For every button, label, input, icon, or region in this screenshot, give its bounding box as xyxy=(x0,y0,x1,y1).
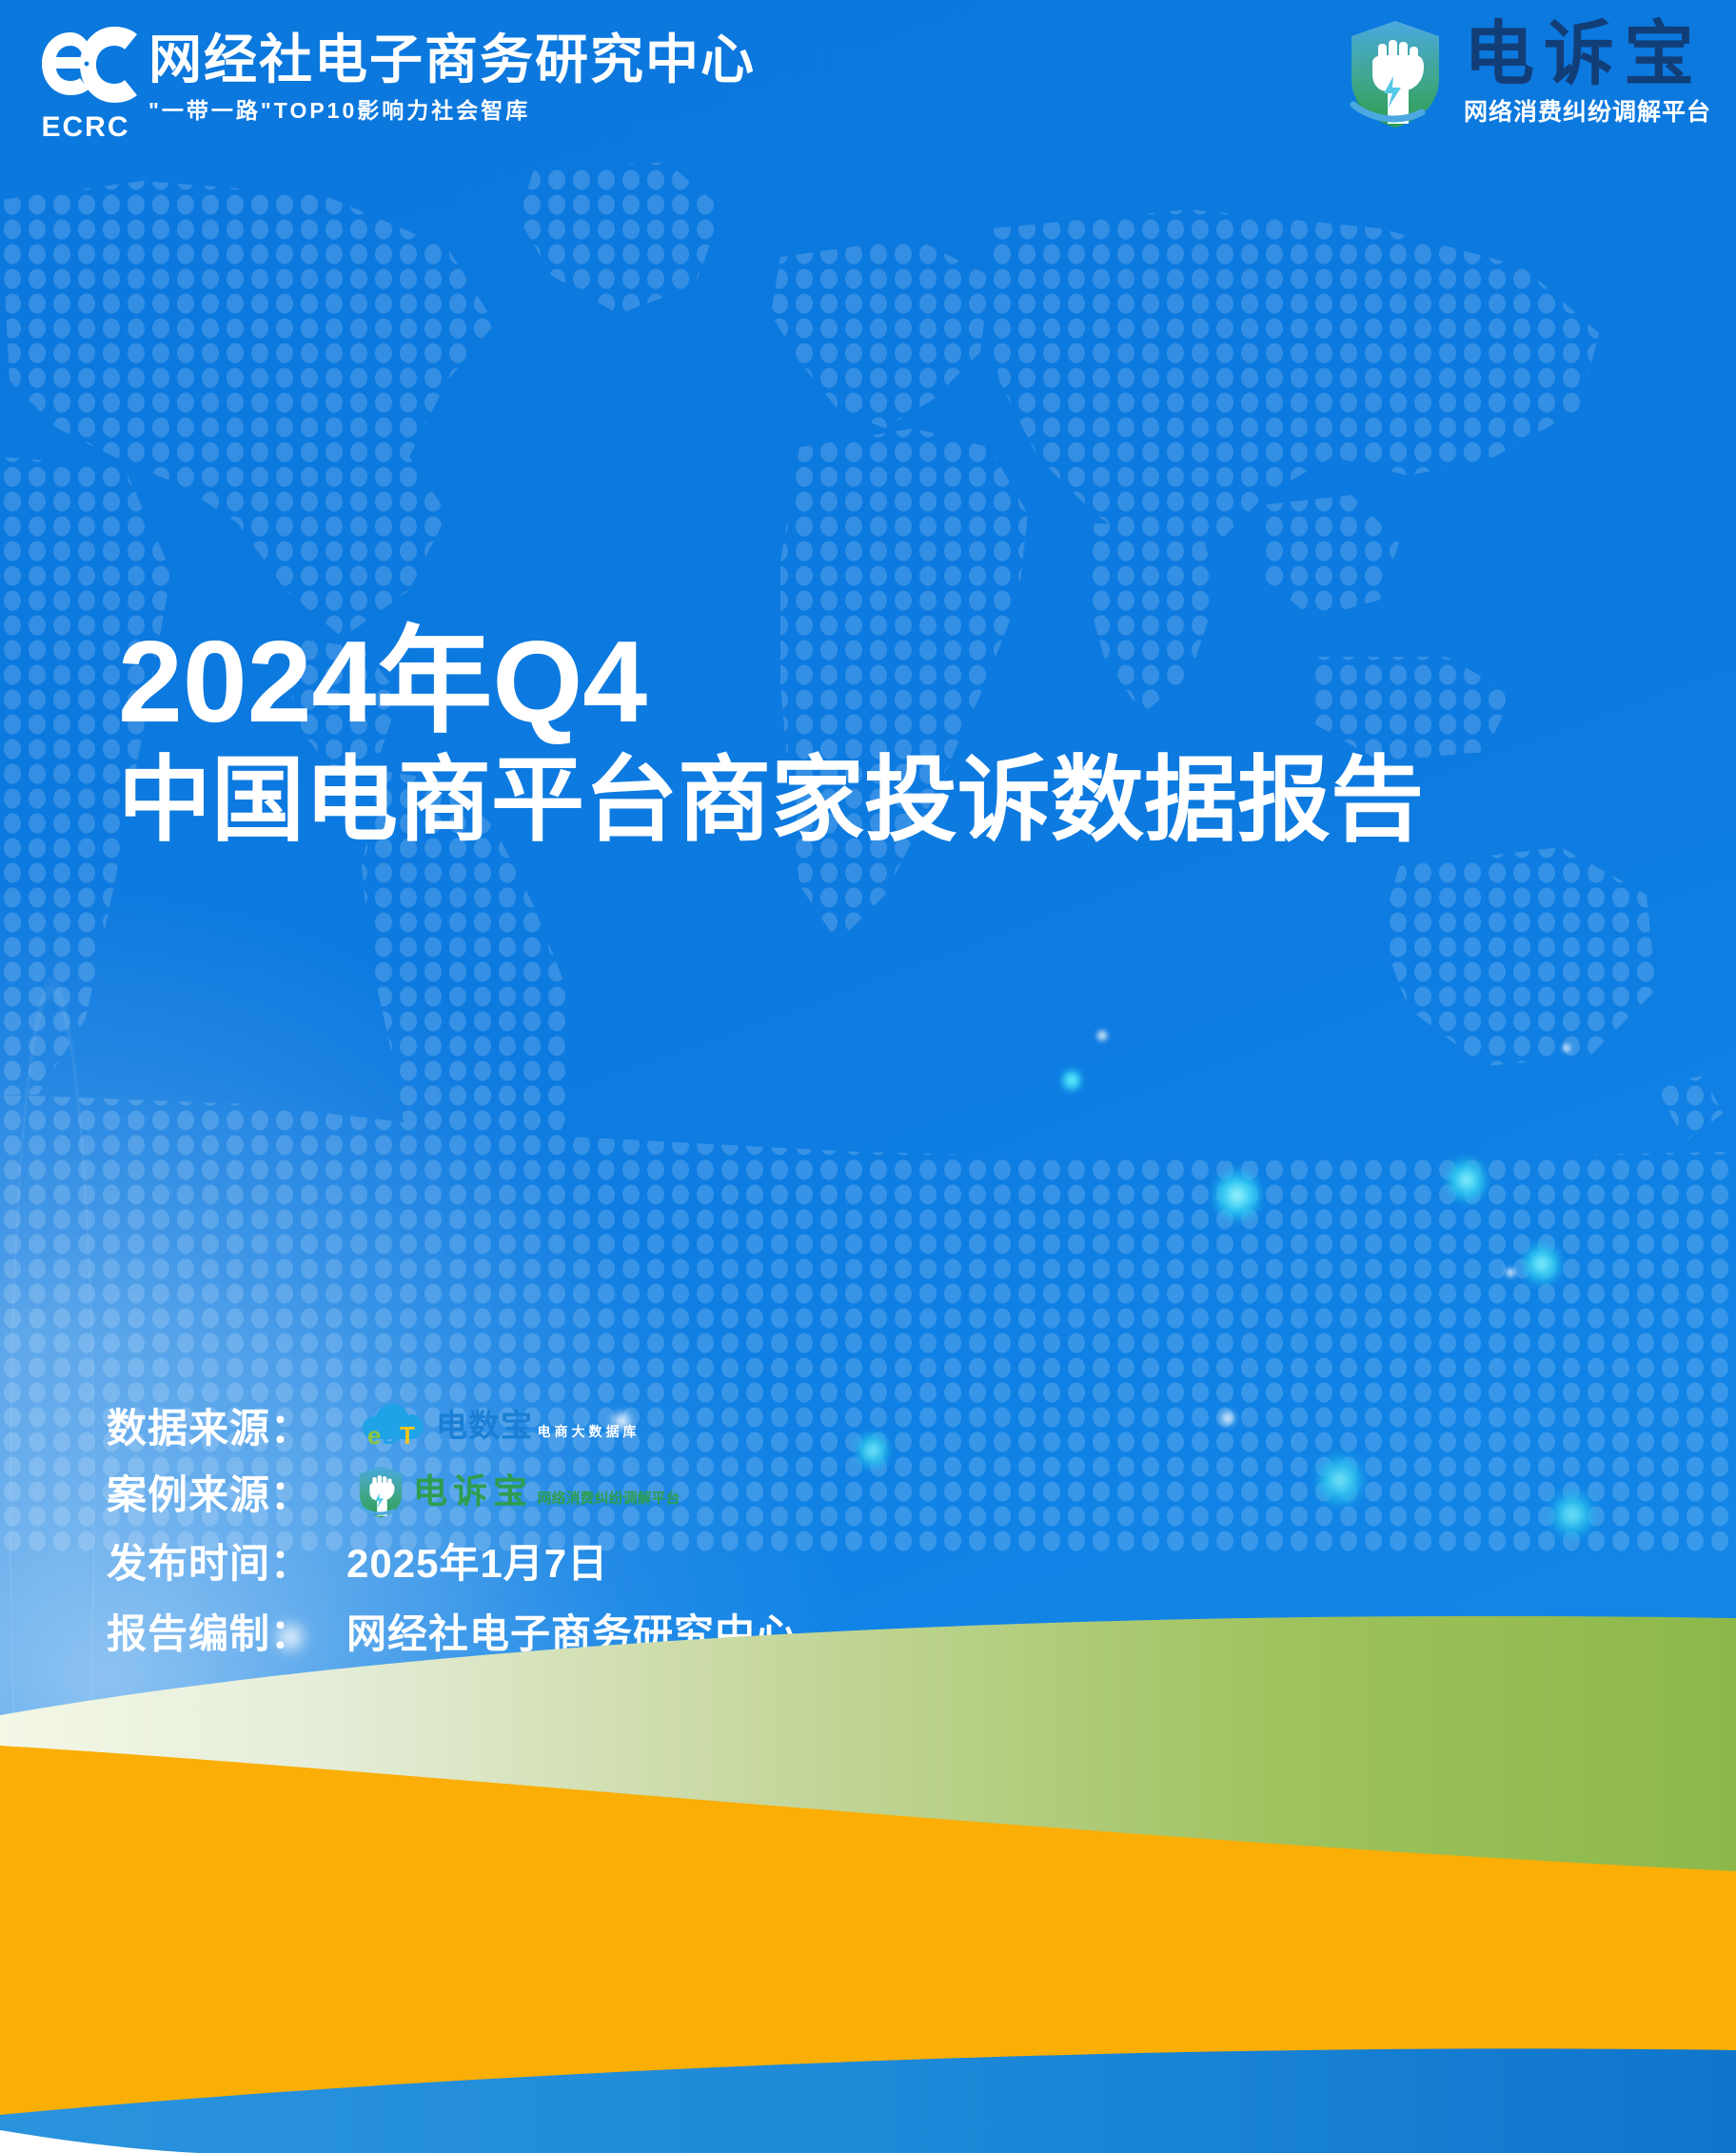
ecrc-logo: ECRC 网经社电子商务研究中心 "一带一路"TOP10影响力社会智库 xyxy=(32,21,756,144)
bottom-decorative-waves xyxy=(0,1582,1736,2153)
ecrc-text-block: 网经社电子商务研究中心 "一带一路"TOP10影响力社会智库 xyxy=(148,21,756,125)
edt-text-block: 电数宝 电商大数据库 xyxy=(436,1410,640,1441)
cover-title-block: 2024年Q4 中国电商平台商家投诉数据报告 xyxy=(118,617,1424,857)
meta-row-data-source: 数据来源： e D T 电数宝 电商大数据库 xyxy=(107,1392,797,1458)
dianshubao-logo: 电诉宝 网络消费纠纷调解平台 xyxy=(1340,17,1711,129)
report-period-title: 2024年Q4 xyxy=(118,617,1424,747)
dianshubao-small-subtitle: 网络消费纠纷调解平台 xyxy=(537,1491,680,1507)
cloud-edt-icon: e D T xyxy=(354,1398,434,1452)
meta-value-publish-date: 2025年1月7日 xyxy=(346,1531,608,1590)
edt-subtitle: 电商大数据库 xyxy=(537,1424,640,1439)
meta-label-publish-date: 发布时间： xyxy=(107,1531,346,1590)
dianshubao-small-brand: 电诉宝 xyxy=(413,1472,533,1511)
dianshubao-brand: 电诉宝 xyxy=(1464,19,1711,89)
ecrc-monogram-icon: ECRC xyxy=(32,21,139,144)
svg-text:e: e xyxy=(367,1421,381,1450)
report-cover: ECRC 网经社电子商务研究中心 "一带一路"TOP10影响力社会智库 xyxy=(0,0,1736,2153)
ecrc-org-name: 网经社电子商务研究中心 xyxy=(148,32,756,89)
meta-label-case-source: 案例来源： xyxy=(107,1463,346,1521)
shield-fist-icon xyxy=(354,1464,407,1519)
dianshubao-small-logo: 电诉宝 网络消费纠纷调解平台 xyxy=(354,1464,680,1519)
ecrc-wordmark: ECRC xyxy=(32,111,139,144)
svg-text:D: D xyxy=(382,1421,400,1450)
dianshubao-text-block: 电诉宝 网络消费纠纷调解平台 xyxy=(1464,19,1711,128)
dianshubao-small-text-block: 电诉宝 网络消费纠纷调解平台 xyxy=(413,1474,680,1509)
dianshubao-edt-logo: e D T 电数宝 电商大数据库 xyxy=(354,1398,640,1452)
dianshubao-subtitle: 网络消费纠纷调解平台 xyxy=(1464,93,1711,128)
meta-row-case-source: 案例来源： xyxy=(107,1458,797,1525)
shield-fist-icon xyxy=(1340,17,1450,129)
svg-text:T: T xyxy=(400,1421,415,1450)
ecrc-tagline: "一带一路"TOP10影响力社会智库 xyxy=(148,92,756,125)
meta-label-data-source: 数据来源： xyxy=(107,1396,346,1454)
edt-brand: 电数宝 xyxy=(436,1408,533,1443)
report-title: 中国电商平台商家投诉数据报告 xyxy=(118,743,1424,858)
